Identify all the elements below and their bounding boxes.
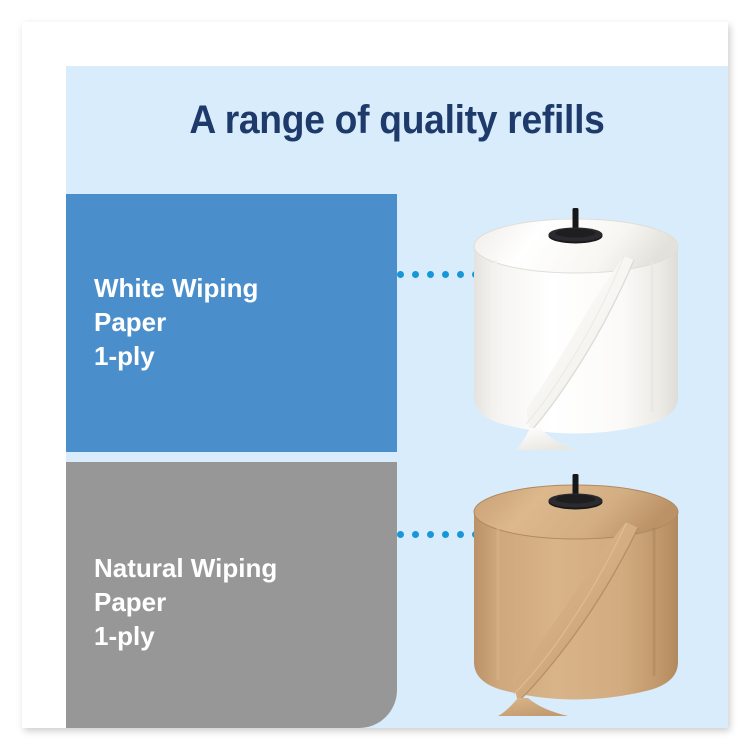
card-frame: A range of quality refills White Wiping … — [22, 22, 728, 728]
connector-dot-icon — [397, 531, 404, 538]
connector-dot-icon — [427, 531, 434, 538]
connector-dot-icon — [442, 271, 449, 278]
panel-label-white-wiping-paper: White Wiping Paper 1-ply — [94, 272, 397, 373]
page-title: A range of quality refills — [89, 98, 705, 143]
connector-dot-icon — [397, 271, 404, 278]
connector-dot-icon — [442, 531, 449, 538]
panel-white-wiping-paper: White Wiping Paper 1-ply — [66, 194, 397, 452]
connector-dot-icon — [412, 531, 419, 538]
infographic-stage: A range of quality refills White Wiping … — [66, 66, 728, 728]
product-image-natural-wiping-paper-roll — [456, 466, 696, 716]
panel-natural-wiping-paper: Natural Wiping Paper 1-ply — [66, 462, 397, 728]
product-image-white-wiping-paper-roll — [456, 200, 696, 450]
connector-dot-icon — [412, 271, 419, 278]
panel-label-natural-wiping-paper: Natural Wiping Paper 1-ply — [94, 552, 397, 653]
connector-dot-icon — [427, 271, 434, 278]
product-infographic: A range of quality refills White Wiping … — [0, 0, 750, 750]
